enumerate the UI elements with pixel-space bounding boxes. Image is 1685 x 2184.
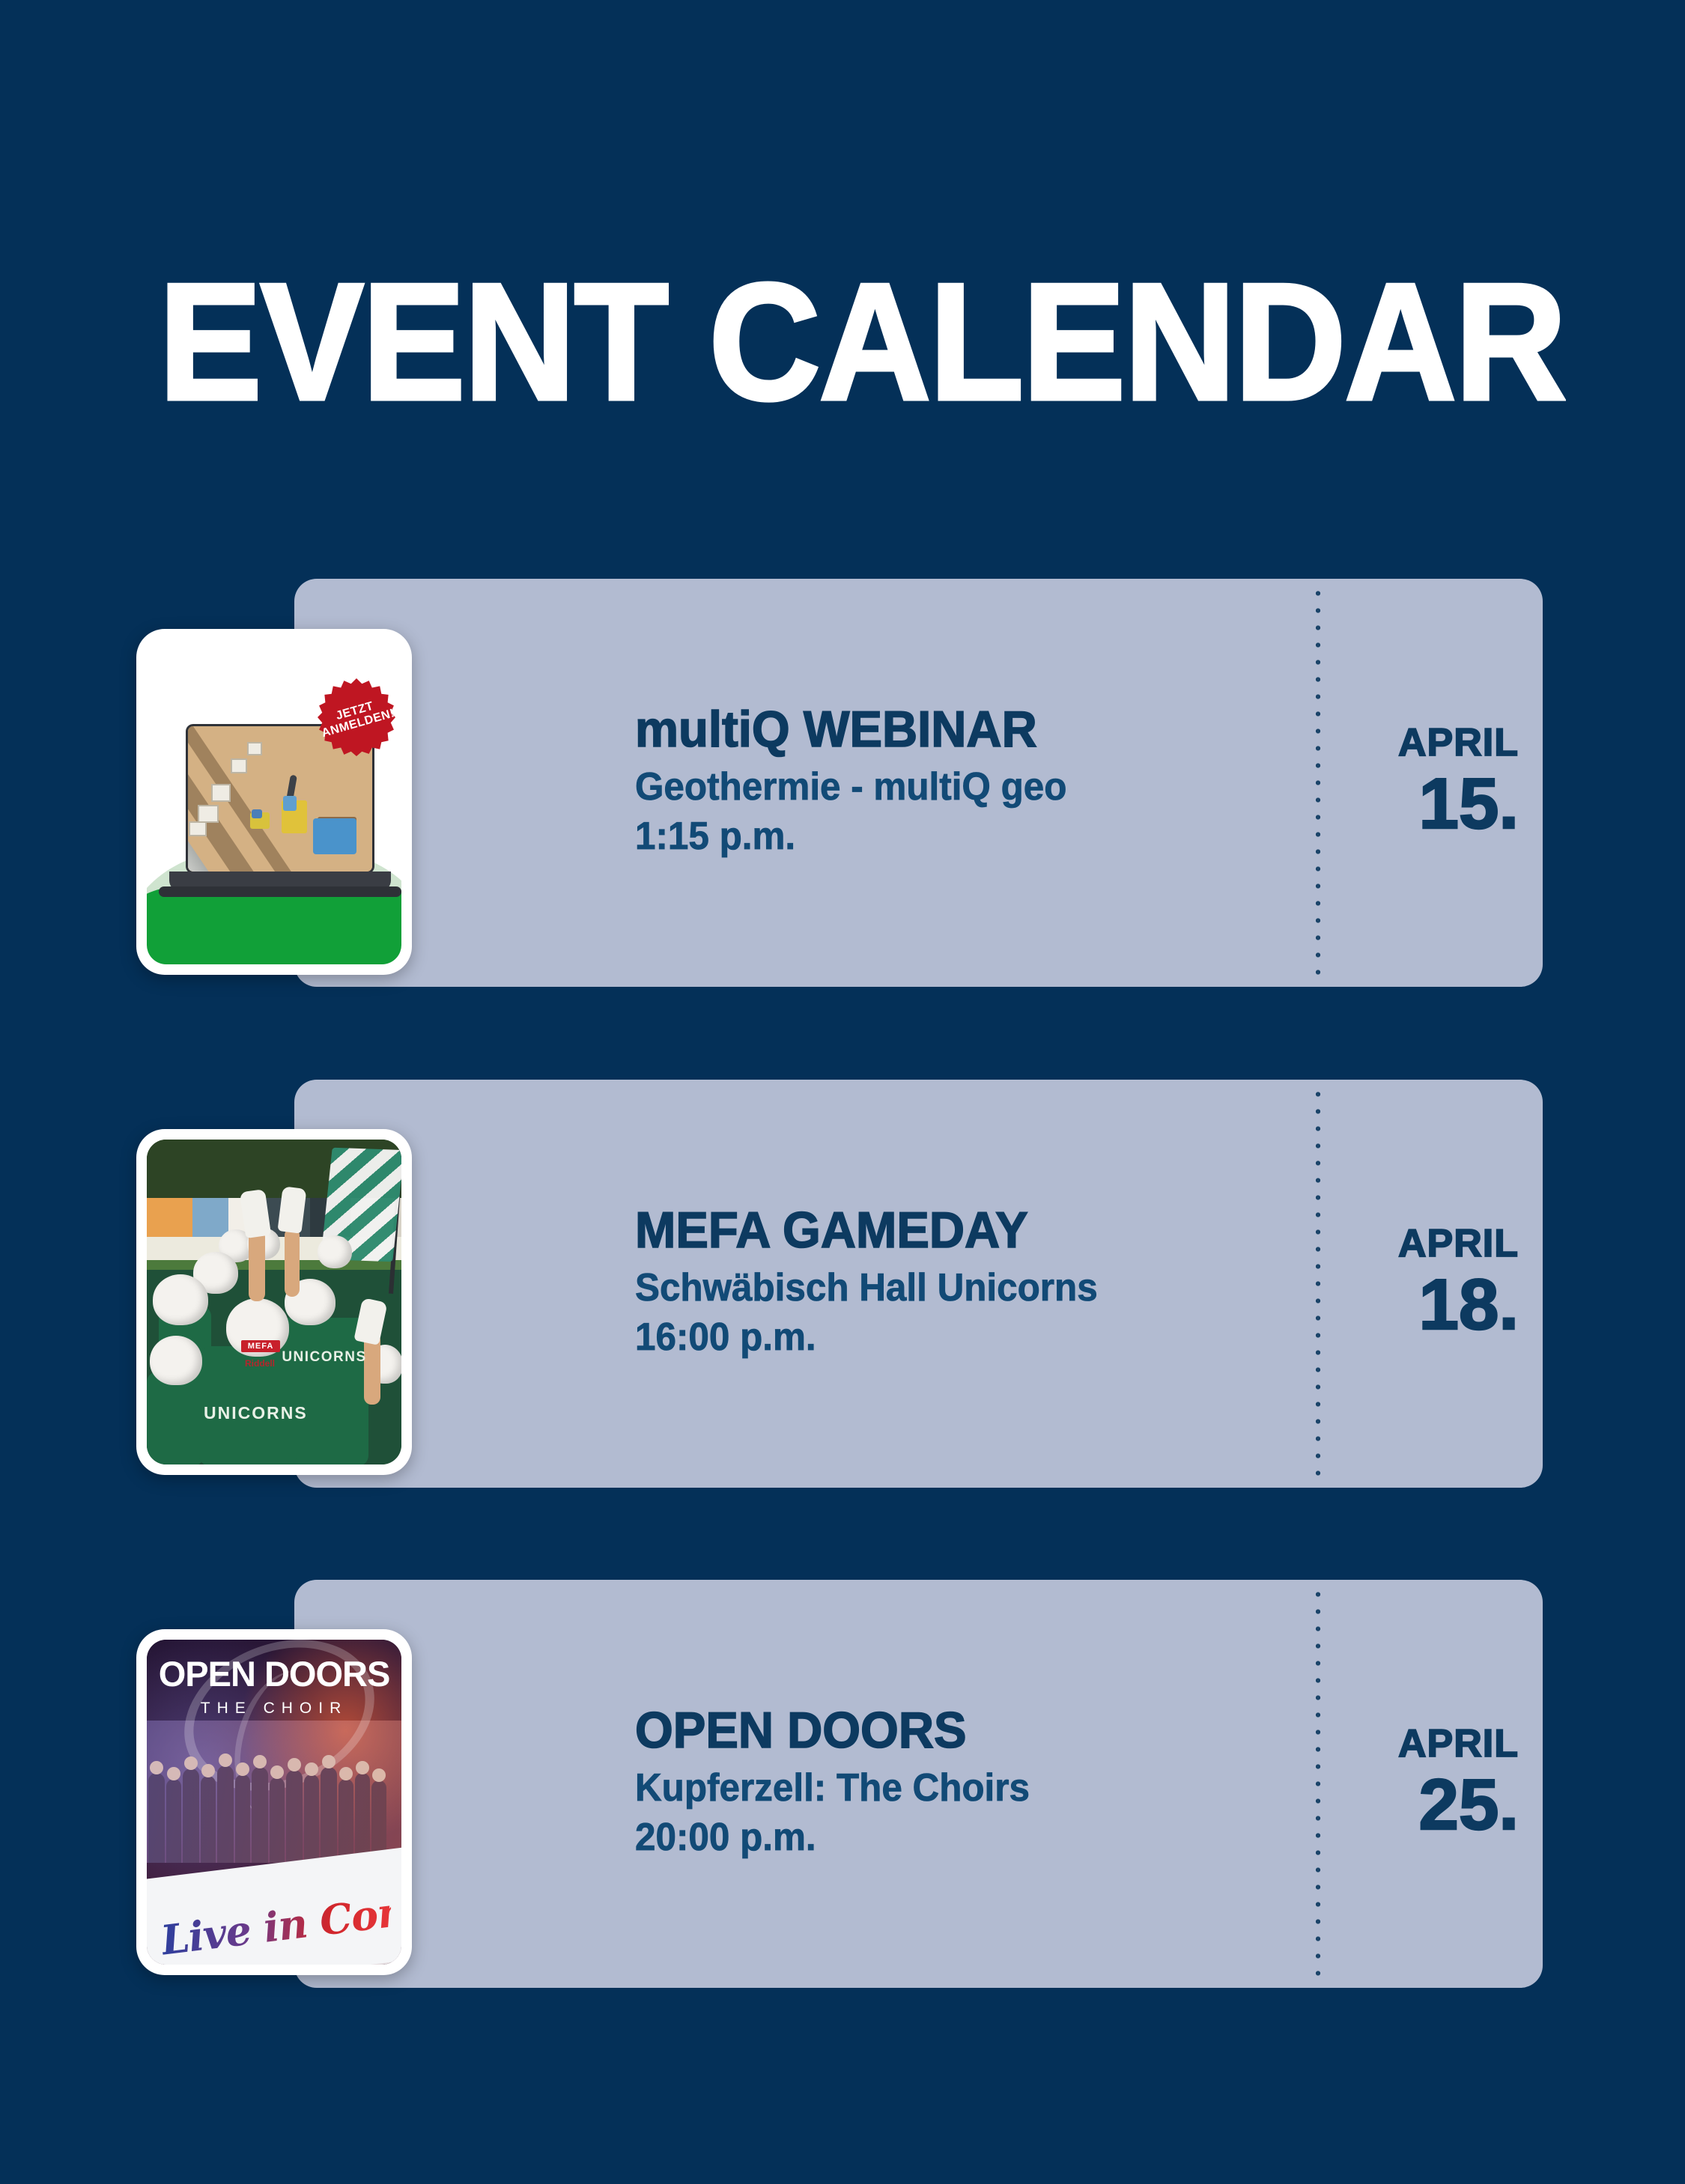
helmet-brand-decal: Riddell bbox=[237, 1358, 283, 1369]
event-time: 16:00 p.m. bbox=[635, 1312, 1226, 1363]
poster-title: OPEN DOORS bbox=[147, 1656, 401, 1691]
ticket-date-block: APRIL 18. bbox=[1358, 1080, 1543, 1488]
ticket-text-block: multiQ WEBINAR Geothermie - multiQ geo 1… bbox=[635, 579, 1257, 987]
event-ticket[interactable]: OPEN DOORS Kupferzell: The Choirs 20:00 … bbox=[294, 1580, 1543, 1988]
foundation-pad bbox=[198, 805, 219, 823]
small-machine-cab bbox=[252, 809, 262, 818]
event-subtitle: Kupferzell: The Choirs bbox=[635, 1763, 1226, 1813]
ticket-date-block: APRIL 15. bbox=[1358, 579, 1543, 987]
thumbnail-image: MEFA Riddell UNICORNS UNICORNS bbox=[147, 1140, 401, 1464]
event-month: APRIL bbox=[1398, 1724, 1519, 1763]
event-ticket[interactable]: MEFA GAMEDAY Schwäbisch Hall Unicorns 16… bbox=[294, 1080, 1543, 1488]
helmet-sponsor-decal: MEFA bbox=[241, 1340, 280, 1352]
thumbnail-image: JETZT ANMELDEN! bbox=[147, 639, 401, 964]
jersey-wordmark: UNICORNS bbox=[280, 1349, 368, 1366]
choir-singers bbox=[147, 1721, 401, 1863]
event-thumbnail-webinar[interactable]: JETZT ANMELDEN! bbox=[136, 629, 412, 975]
player-helmet bbox=[318, 1235, 352, 1268]
event-month: APRIL bbox=[1398, 723, 1519, 762]
ticket-perforation-line bbox=[1314, 1086, 1322, 1482]
excavator-cab bbox=[283, 796, 297, 811]
event-time: 20:00 p.m. bbox=[635, 1813, 1226, 1863]
event-title: multiQ WEBINAR bbox=[635, 704, 1232, 755]
thumbnail-image: OPEN DOORS THE CHOIR Live in Concert bbox=[147, 1640, 401, 1965]
choir-concert-poster: OPEN DOORS THE CHOIR Live in Concert bbox=[147, 1640, 401, 1965]
player-helmet bbox=[150, 1336, 202, 1385]
ticket-text-block: OPEN DOORS Kupferzell: The Choirs 20:00 … bbox=[635, 1580, 1257, 1988]
laptop-foot bbox=[159, 886, 401, 897]
foundation-pad bbox=[189, 821, 207, 836]
event-thumbnail-gameday[interactable]: MEFA Riddell UNICORNS UNICORNS bbox=[136, 1129, 412, 1475]
raised-arm bbox=[249, 1229, 265, 1301]
poster-subtitle: THE CHOIR bbox=[147, 1700, 401, 1718]
event-title: OPEN DOORS bbox=[635, 1705, 1232, 1756]
event-month: APRIL bbox=[1398, 1224, 1519, 1263]
register-now-badge[interactable]: JETZT ANMELDEN! bbox=[318, 678, 395, 756]
dump-truck bbox=[313, 818, 356, 854]
foundation-pad bbox=[247, 742, 262, 755]
event-time: 1:15 p.m. bbox=[635, 812, 1226, 862]
player-helmet bbox=[153, 1274, 208, 1325]
foundation-pad bbox=[211, 784, 231, 802]
event-thumbnail-opendoors[interactable]: OPEN DOORS THE CHOIR Live in Concert bbox=[136, 1629, 412, 1975]
ticket-date-block: APRIL 25. bbox=[1358, 1580, 1543, 1988]
foundation-pad bbox=[231, 758, 247, 773]
event-subtitle: Geothermie - multiQ geo bbox=[635, 762, 1226, 812]
ticket-text-block: MEFA GAMEDAY Schwäbisch Hall Unicorns 16… bbox=[635, 1080, 1257, 1488]
event-day: 25. bbox=[1419, 1768, 1519, 1843]
event-day: 18. bbox=[1419, 1268, 1519, 1343]
badge-label: JETZT ANMELDEN! bbox=[309, 669, 401, 766]
jersey-wordmark: UNICORNS bbox=[204, 1403, 297, 1423]
event-subtitle: Schwäbisch Hall Unicorns bbox=[635, 1263, 1226, 1313]
event-ticket[interactable]: multiQ WEBINAR Geothermie - multiQ geo 1… bbox=[294, 579, 1543, 987]
player-jersey bbox=[147, 1372, 204, 1464]
raised-arm bbox=[285, 1228, 300, 1297]
football-huddle-photo: MEFA Riddell UNICORNS UNICORNS bbox=[147, 1140, 401, 1464]
ticket-perforation-line bbox=[1314, 1586, 1322, 1982]
ticket-perforation-line bbox=[1314, 585, 1322, 981]
event-day: 15. bbox=[1419, 767, 1519, 842]
decorative-wave-green bbox=[147, 886, 401, 964]
event-title: MEFA GAMEDAY bbox=[635, 1205, 1232, 1256]
webinar-illustration: JETZT ANMELDEN! bbox=[147, 639, 401, 964]
